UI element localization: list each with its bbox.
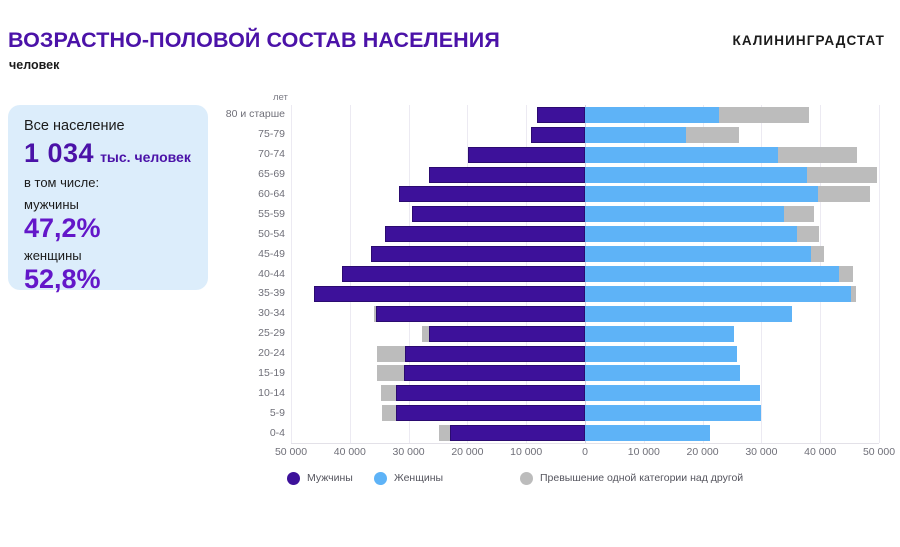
pyramid-row — [291, 365, 879, 381]
x-axis-tick-label: 10 000 — [628, 446, 660, 458]
male-bar — [342, 266, 585, 282]
excess-bar-male-side — [439, 425, 450, 441]
legend-excess-swatch-icon — [520, 472, 533, 485]
female-bar — [585, 186, 818, 202]
female-bar — [585, 306, 792, 322]
male-bar — [396, 385, 585, 401]
legend-female[interactable]: Женщины — [374, 468, 443, 488]
plot-area — [291, 105, 879, 443]
male-bar — [429, 326, 585, 342]
female-bar — [585, 246, 811, 262]
excess-bar-female-side — [778, 147, 856, 163]
pyramid-row — [291, 246, 879, 262]
female-bar — [585, 326, 734, 342]
x-axis-tick-label: 30 000 — [393, 446, 425, 458]
brand-logo-text: КАЛИНИНГРАДСТАТ — [732, 33, 885, 48]
female-bar — [585, 147, 778, 163]
female-bar — [585, 266, 839, 282]
x-axis-tick-label: 30 000 — [745, 446, 777, 458]
male-bar — [385, 226, 585, 242]
x-axis-tick-label: 40 000 — [334, 446, 366, 458]
female-bar — [585, 206, 784, 222]
pyramid-row — [291, 167, 879, 183]
male-bar — [429, 167, 585, 183]
male-bar — [405, 346, 585, 362]
legend-excess-label: Превышение одной категории над другой — [540, 472, 743, 484]
legend-female-label: Женщины — [394, 472, 443, 484]
excess-bar-female-side — [811, 246, 825, 262]
excess-bar-male-side — [381, 385, 396, 401]
pyramid-row — [291, 186, 879, 202]
male-bar — [537, 107, 585, 123]
male-bar — [399, 186, 585, 202]
excess-bar-male-side — [377, 365, 403, 381]
excess-bar-female-side — [686, 127, 739, 143]
male-bar — [412, 206, 585, 222]
female-bar — [585, 346, 737, 362]
page-header: ВОЗРАСТНО-ПОЛОВОЙ СОСТАВ НАСЕЛЕНИЯ челов… — [0, 0, 900, 88]
x-axis-tick-label: 50 000 — [275, 446, 307, 458]
excess-bar-female-side — [851, 286, 856, 302]
male-bar — [404, 365, 585, 381]
female-bar — [585, 286, 851, 302]
pyramid-row — [291, 206, 879, 222]
female-bar — [585, 167, 807, 183]
legend-male-label: Мужчины — [307, 472, 353, 484]
pyramid-row — [291, 385, 879, 401]
male-bar — [376, 306, 585, 322]
x-axis-tick-label: 10 000 — [510, 446, 542, 458]
legend-excess[interactable]: Превышение одной категории над другой — [520, 468, 743, 488]
excess-bar-female-side — [784, 206, 814, 222]
pyramid-row — [291, 405, 879, 421]
page-subtitle: человек — [9, 58, 59, 72]
male-bar — [314, 286, 585, 302]
male-bar — [531, 127, 585, 143]
x-axis-tick-label: 50 000 — [863, 446, 895, 458]
x-axis-tick-label: 20 000 — [687, 446, 719, 458]
female-bar — [585, 365, 740, 381]
male-bar — [396, 405, 585, 421]
male-bar — [450, 425, 585, 441]
x-axis-labels: 50 00040 00030 00020 00010 000010 00020 … — [0, 446, 900, 466]
page-title: ВОЗРАСТНО-ПОЛОВОЙ СОСТАВ НАСЕЛЕНИЯ — [8, 28, 500, 53]
pyramid-row — [291, 286, 879, 302]
female-bar — [585, 425, 710, 441]
x-axis-tick-label: 20 000 — [451, 446, 483, 458]
excess-bar-female-side — [807, 167, 877, 183]
pyramid-row — [291, 425, 879, 441]
excess-bar-female-side — [797, 226, 819, 242]
excess-bar-male-side — [422, 326, 429, 342]
male-bar — [371, 246, 585, 262]
gridline — [879, 105, 880, 443]
excess-bar-female-side — [839, 266, 853, 282]
excess-bar-female-side — [818, 186, 869, 202]
pyramid-row — [291, 346, 879, 362]
pyramid-row — [291, 147, 879, 163]
pyramid-row — [291, 226, 879, 242]
x-axis-line — [291, 443, 879, 444]
population-pyramid-chart: 50 00040 00030 00020 00010 000010 00020 … — [0, 88, 900, 498]
legend-female-swatch-icon — [374, 472, 387, 485]
female-bar — [585, 127, 686, 143]
excess-bar-male-side — [377, 346, 405, 362]
female-bar — [585, 107, 719, 123]
pyramid-row — [291, 326, 879, 342]
legend-male-swatch-icon — [287, 472, 300, 485]
pyramid-row — [291, 127, 879, 143]
legend-male[interactable]: Мужчины — [287, 468, 353, 488]
male-bar — [468, 147, 585, 163]
chart-legend: МужчиныЖенщиныПревышение одной категории… — [0, 468, 900, 492]
pyramid-row — [291, 266, 879, 282]
female-bar — [585, 226, 797, 242]
x-axis-tick-label: 0 — [582, 446, 588, 458]
excess-bar-male-side — [382, 405, 396, 421]
x-axis-tick-label: 40 000 — [804, 446, 836, 458]
female-bar — [585, 405, 761, 421]
excess-bar-female-side — [719, 107, 809, 123]
pyramid-row — [291, 306, 879, 322]
female-bar — [585, 385, 760, 401]
pyramid-row — [291, 107, 879, 123]
